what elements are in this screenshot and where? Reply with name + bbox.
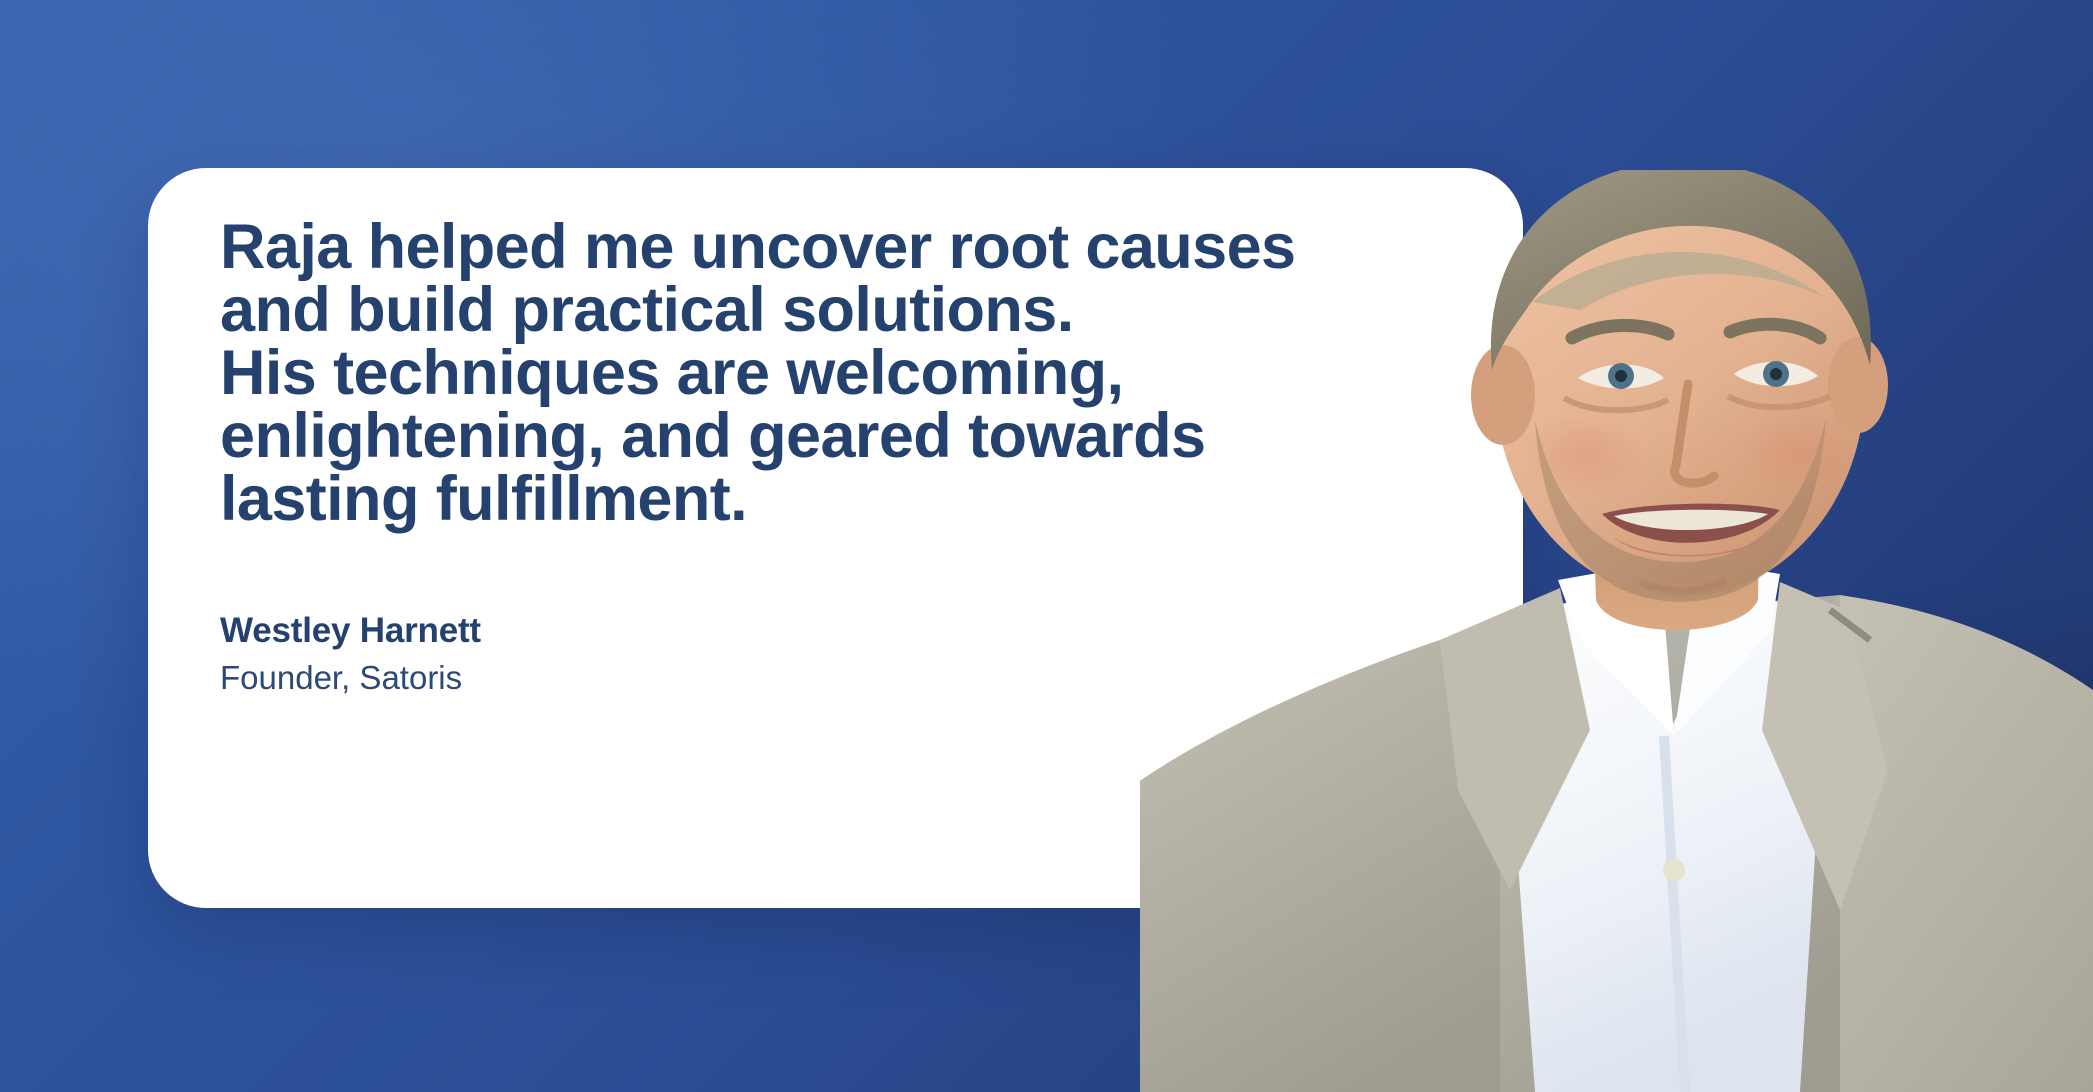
testimonial-card: Raja helped me uncover root causes and b… xyxy=(148,168,1523,908)
author-name: Westley Harnett xyxy=(220,609,1483,653)
attribution-block: Westley Harnett Founder, Satoris xyxy=(220,609,1483,700)
testimonial-card-content: Raja helped me uncover root causes and b… xyxy=(220,216,1483,700)
author-role: Founder, Satoris xyxy=(220,657,1483,700)
testimonial-banner: Raja helped me uncover root causes and b… xyxy=(0,0,2093,1092)
quote-text: Raja helped me uncover root causes and b… xyxy=(220,216,1483,531)
